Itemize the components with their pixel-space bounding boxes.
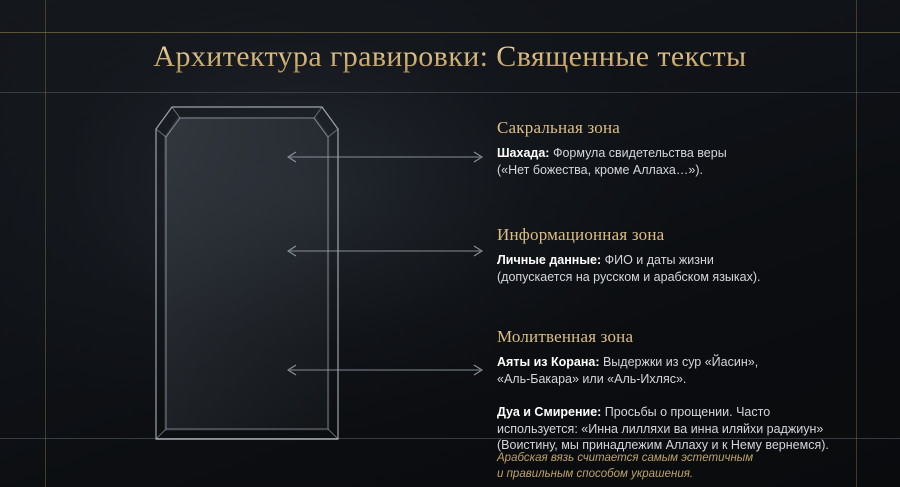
paragraph-lead: Личные данные: — [497, 253, 601, 267]
paragraph-lead: Шахада: — [497, 146, 549, 160]
grid-line-top — [0, 32, 900, 33]
paragraph-line: «Аль-Бакара» или «Аль-Ихляс». — [497, 372, 686, 386]
paragraph-rest: Формула свидетельства веры — [549, 146, 726, 160]
zone-block-sacral: Сакральная зона Шахада: Формула свидетел… — [497, 118, 857, 178]
paragraph-rest: Просьбы о прощении. Часто — [601, 405, 770, 419]
zone-block-information: Информационная зона Личные данные: ФИО и… — [497, 225, 857, 285]
memorial-stele-diagram — [120, 95, 380, 455]
pointer-prayer-zone — [284, 363, 486, 377]
page-title: Архитектура гравировки: Священные тексты — [0, 40, 900, 74]
paragraph-rest: Выдержки из сур «Йасин», — [599, 355, 758, 369]
paragraph-lead: Аяты из Корана: — [497, 355, 599, 369]
zone-title-information: Информационная зона — [497, 225, 857, 245]
zone-title-prayer: Молитвенная зона — [497, 327, 857, 347]
footer-line-2: и правильным способом украшения. — [497, 466, 867, 482]
paragraph-rest: ФИО и даты жизни — [601, 253, 714, 267]
footer-line-1: Арабская вязь считается самым эстетичным — [497, 450, 867, 466]
pointer-information-zone — [284, 244, 486, 258]
footer-note: Арабская вязь считается самым эстетичным… — [497, 450, 867, 482]
zone-paragraph: Дуа и Смирение: Просьбы о прощении. Част… — [497, 404, 857, 454]
zone-paragraph: Личные данные: ФИО и даты жизни (допуска… — [497, 252, 857, 285]
zone-list: Сакральная зона Шахада: Формула свидетел… — [497, 118, 857, 472]
zone-paragraph: Шахада: Формула свидетельства веры («Нет… — [497, 145, 857, 178]
pointer-sacral-zone — [284, 150, 486, 164]
zone-title-sacral: Сакральная зона — [497, 118, 857, 138]
paragraph-line: (допускается на русском и арабском языка… — [497, 270, 761, 284]
paragraph-lead: Дуа и Смирение: — [497, 405, 601, 419]
grid-line-title-bottom — [0, 92, 900, 93]
zone-block-prayer: Молитвенная зона Аяты из Корана: Выдержк… — [497, 327, 857, 454]
zone-paragraph: Аяты из Корана: Выдержки из сур «Йасин»,… — [497, 354, 857, 387]
paragraph-line: («Нет божества, кроме Аллаха…»). — [497, 163, 703, 177]
paragraph-line: используется: «Инна лилляхи ва инна иляй… — [497, 422, 823, 436]
slide-canvas: Архитектура гравировки: Священные тексты — [0, 0, 900, 487]
